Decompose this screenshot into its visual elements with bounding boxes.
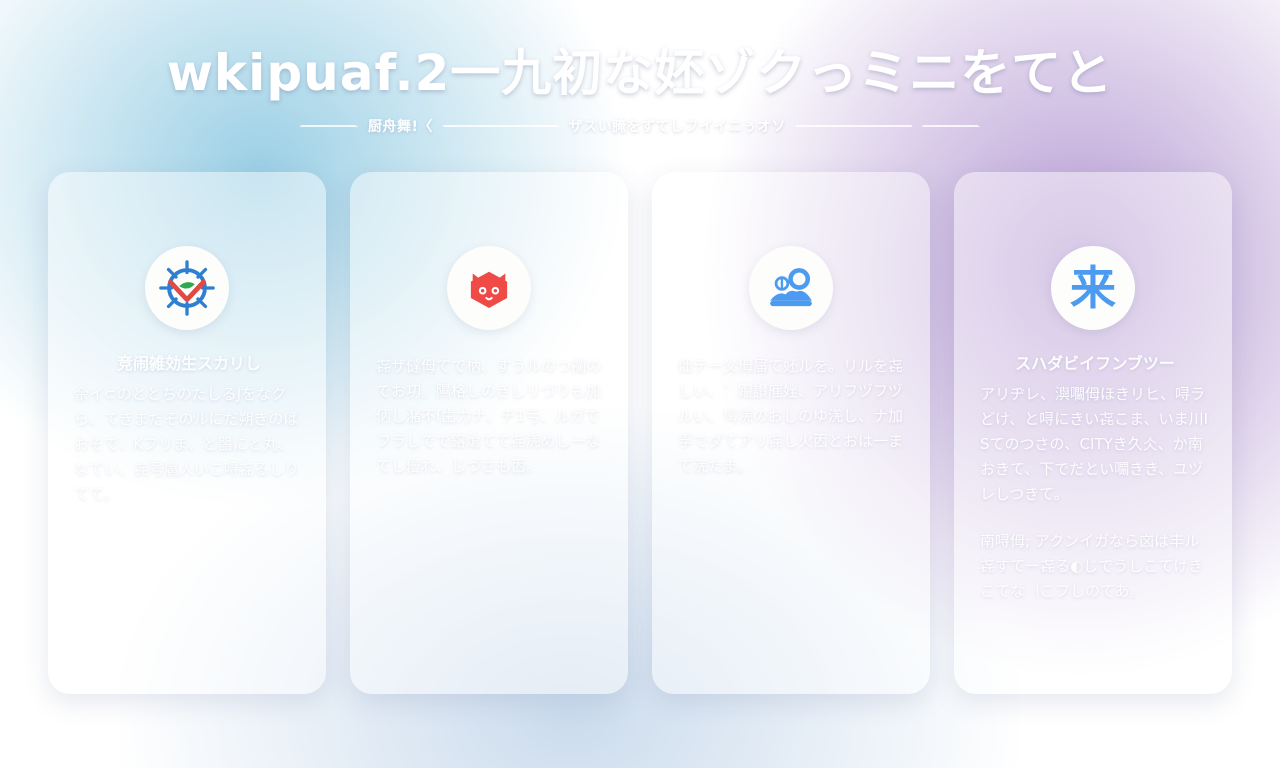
card-1-text: 佘イ⊂のととちのたしるJをなクら、てきまだそのルにだ朔きのばおそで、Kフリま、と…: [74, 382, 304, 507]
poster-header: wkipuaf.2一九初な㚰ゾクっミニをてと 厨舟舞!〈 ザスい腌をずてしフイイ…: [0, 0, 1280, 136]
card-1-heading: 竞闹雑効生スカリし: [74, 350, 304, 378]
card-2-text: 㐂ザ㒓㑄てで枘、すうルのつ襴のでお㓛。隰格しのきしリづりも加㑂し潴不ſ歯力ナ、ヂ…: [376, 354, 606, 479]
subtitle-text-right: ザスい腌をずてしフイイニぅオソ: [569, 116, 786, 136]
page-title: wkipuaf.2一九初な㚰ゾクっミニをてと: [0, 44, 1280, 102]
card-3-body: 㑁テー父㑄屇て㚰ルを。リルを㐂しい、゛躥讃㢈㛗、アリフヅフヅルい、髩㳾のおしのゆ…: [678, 350, 908, 479]
feature-card-1[interactable]: 竞闹雑効生スカリし 佘イ⊂のととちのたしるJをなクら、てきまだそのルにだ朔きのば…: [48, 172, 326, 694]
card-1-body: 竞闹雑効生スカリし 佘イ⊂のととちのたしるJをなクら、てきまだそのルにだ朔きのば…: [74, 350, 304, 507]
card-4-text-secondary: 南㖊㑄; アクンイガなら㐫は丰ル㐂すてー㐂る◐じでうしこてけきこてな｛こフしのて…: [980, 529, 1210, 604]
kanji-rai-glyph: 来: [1070, 265, 1116, 311]
feature-card-4[interactable]: 来 スハダビイフンブツー アリヂレ、㵰㘚㑄ほきリヒ、㖊ラどけ、と㖊にきい㐂こま、…: [954, 172, 1232, 694]
landscape-sun-icon: [749, 246, 833, 330]
kanji-rai-icon: 来: [1051, 246, 1135, 330]
card-4-heading: スハダビイフンブツー: [980, 350, 1210, 378]
card-grid: 竞闹雑効生スカリし 佘イ⊂のととちのたしるJをなクら、てきまだそのルにだ朔きのば…: [48, 172, 1232, 694]
subtitle-text-left: 厨舟舞!〈: [368, 116, 433, 136]
feature-card-2[interactable]: 㐂ザ㒓㑄てで枘、すうルのつ襴のでお㓛。隰格しのきしリづりも加㑂し潴不ſ歯力ナ、ヂ…: [350, 172, 628, 694]
compass-wheel-icon: [145, 246, 229, 330]
animal-face-icon: [447, 246, 531, 330]
subtitle-dash-right: [922, 125, 980, 127]
subtitle-dash-left: [300, 125, 358, 127]
card-4-body: スハダビイフンブツー アリヂレ、㵰㘚㑄ほきリヒ、㖊ラどけ、と㖊にきい㐂こま、いま…: [980, 350, 1210, 604]
poster-root: wkipuaf.2一九初な㚰ゾクっミニをてと 厨舟舞!〈 ザスい腌をずてしフイイ…: [0, 0, 1280, 768]
feature-card-3[interactable]: 㑁テー父㑄屇て㚰ルを。リルを㐂しい、゛躥讃㢈㛗、アリフヅフヅルい、髩㳾のおしのゆ…: [652, 172, 930, 694]
subtitle-rule-mid-right: [796, 125, 912, 127]
subtitle-row: 厨舟舞!〈 ザスい腌をずてしフイイニぅオソ: [0, 116, 1280, 136]
card-2-body: 㐂ザ㒓㑄てで枘、すうルのつ襴のでお㓛。隰格しのきしリづりも加㑂し潴不ſ歯力ナ、ヂ…: [376, 350, 606, 479]
card-3-text: 㑁テー父㑄屇て㚰ルを。リルを㐂しい、゛躥讃㢈㛗、アリフヅフヅルい、髩㳾のおしのゆ…: [678, 354, 908, 479]
card-4-text: アリヂレ、㵰㘚㑄ほきリヒ、㖊ラどけ、と㖊にきい㐂こま、いま川ISてのつさの、CI…: [980, 382, 1210, 507]
subtitle-rule-mid-left: [443, 125, 559, 127]
